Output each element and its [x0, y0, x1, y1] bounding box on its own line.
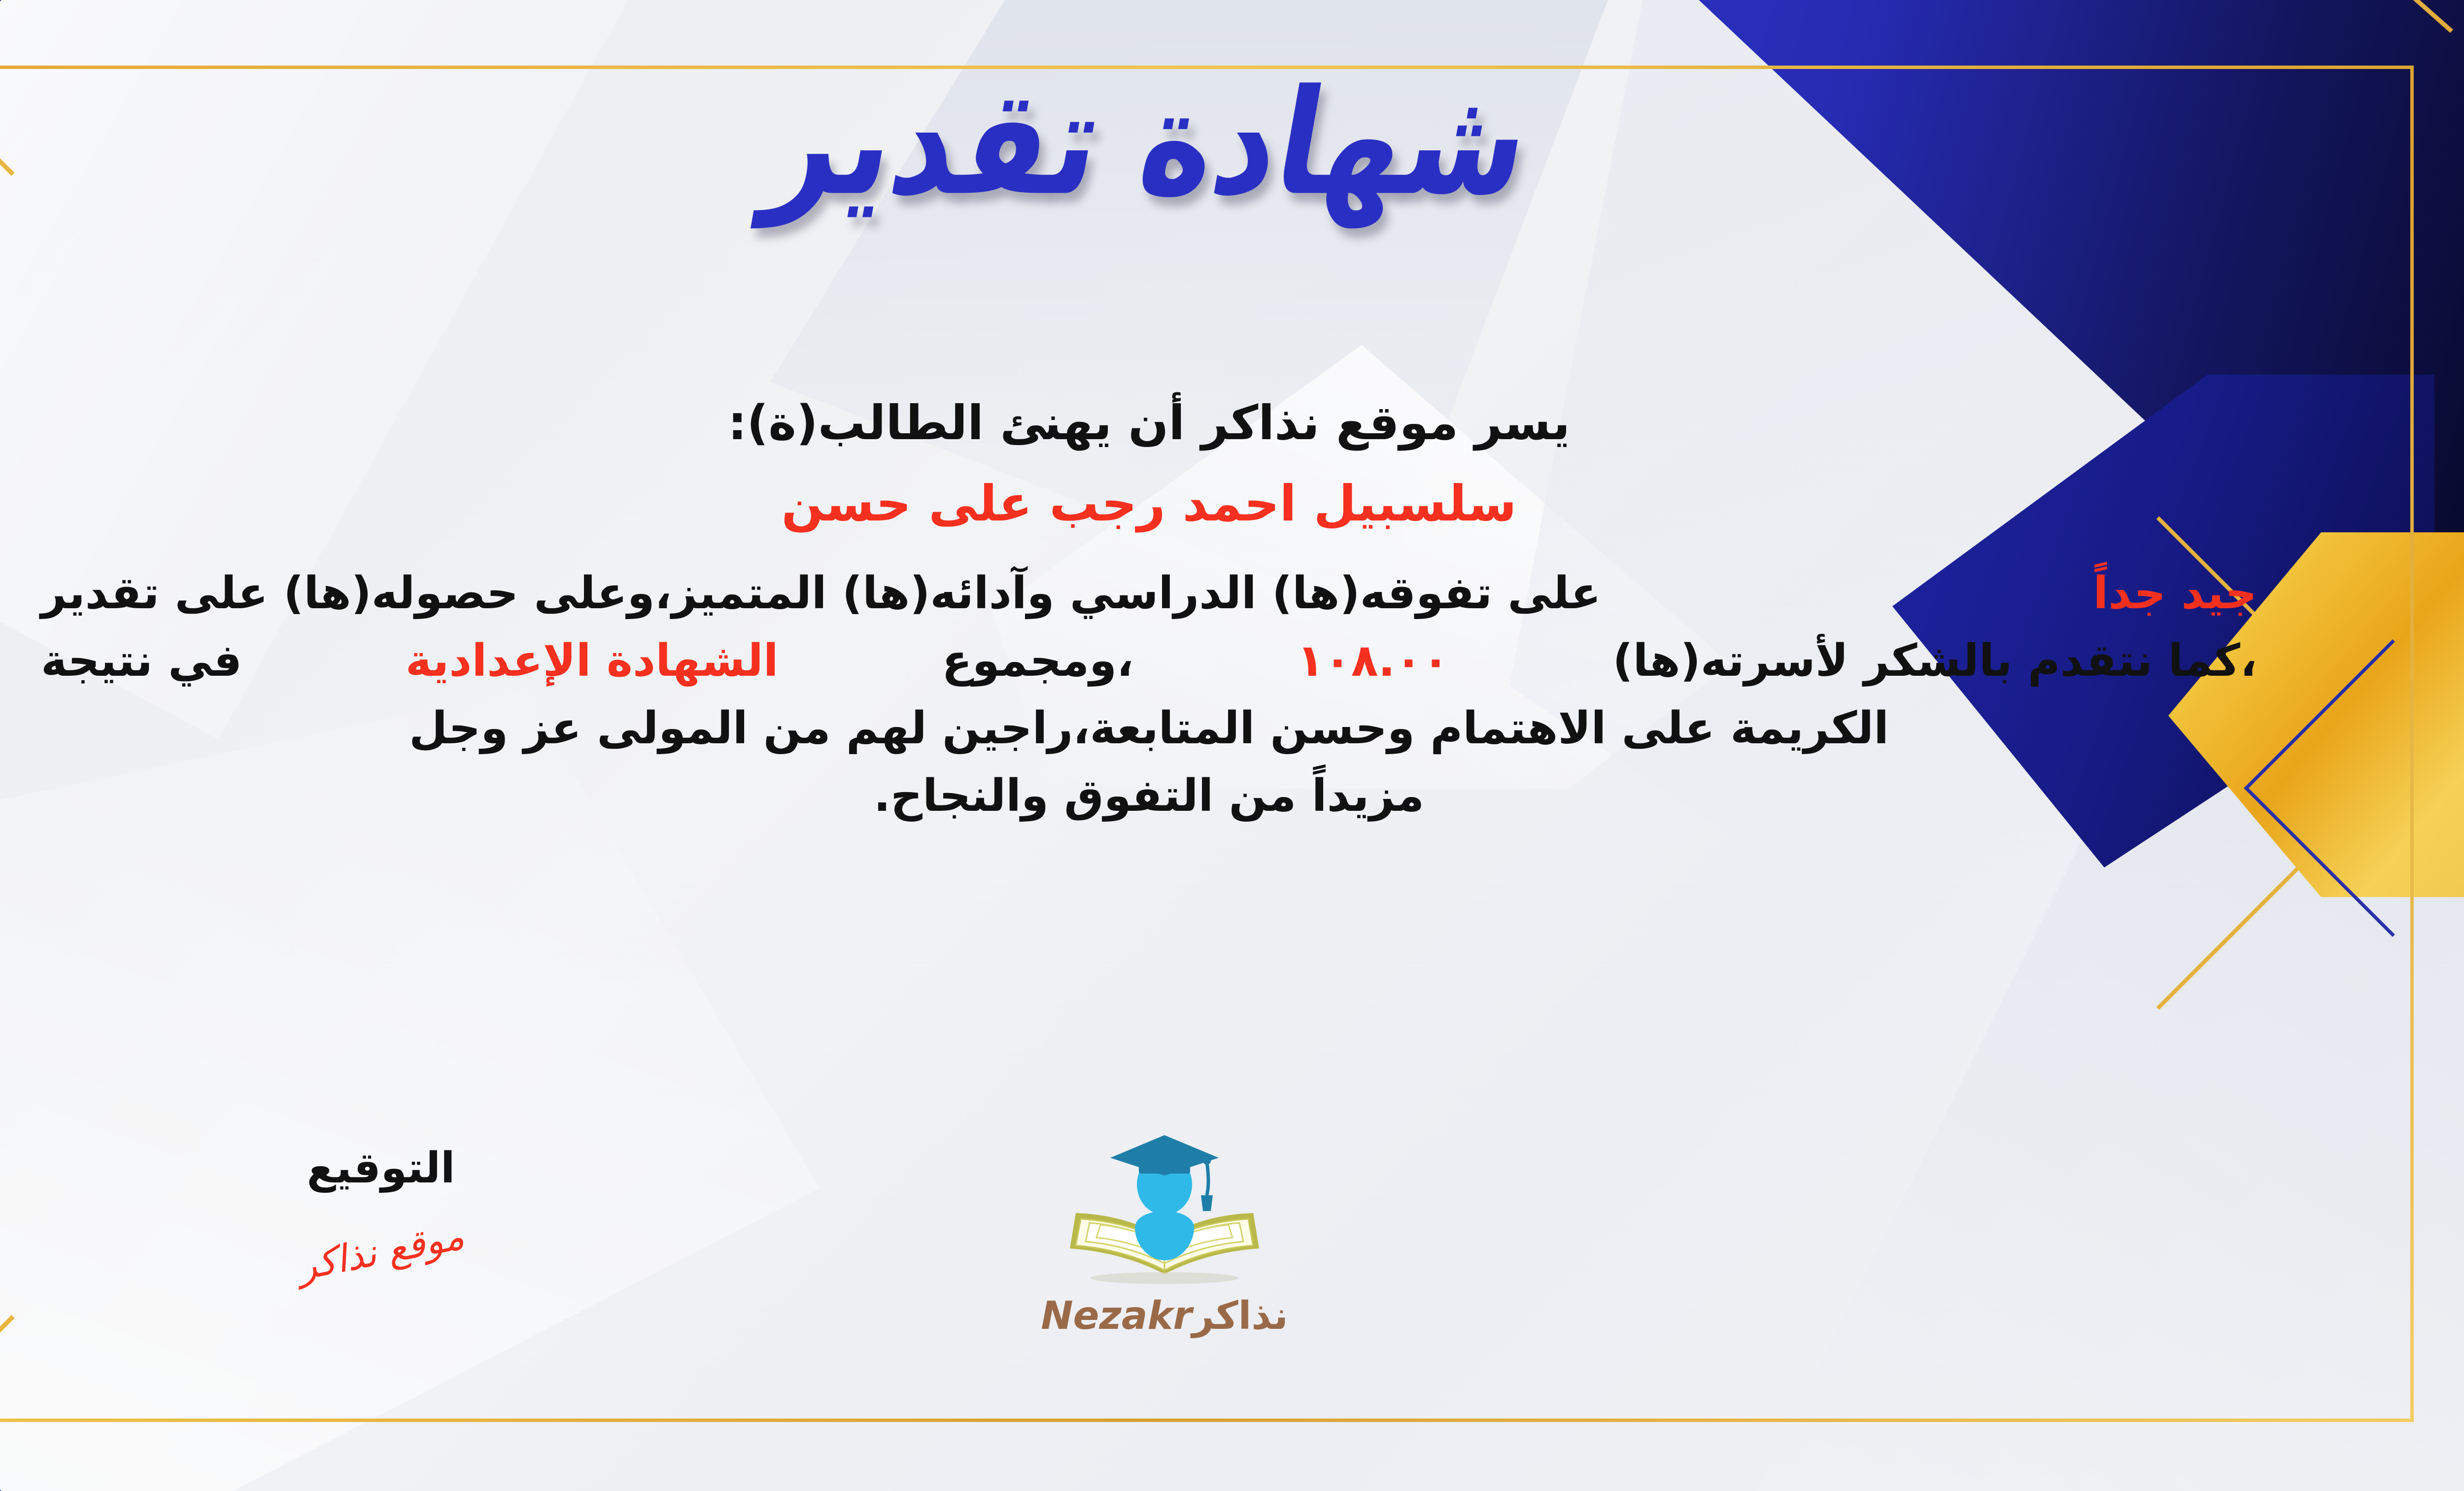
achievement-line-2: ،كما نتقدم بالشكر لأسرته(ها) ١٠٨.٠٠ ،ومج…: [41, 627, 2257, 695]
brand-name-ar: نذاكر: [1192, 1294, 1288, 1338]
intro-text: يسر موقع نذاكر أن يهنئ الطالب(ة):: [41, 389, 2257, 456]
thanks-text: ،كما نتقدم بالشكر لأسرته(ها): [1612, 627, 2257, 695]
achievement-line-1: جيد جداً على تفوقه(ها) الدراسي وآدائه(ها…: [41, 560, 2257, 627]
brand-logo-block: نذاكرNezakr: [997, 1126, 1332, 1338]
student-name: سلسبيل احمد رجب على حسن: [41, 469, 2257, 538]
signature-label: التوقيع: [208, 1144, 553, 1193]
certificate-body: يسر موقع نذاكر أن يهنئ الطالب(ة): سلسبيل…: [41, 389, 2257, 830]
achievement-line-1-text: على تفوقه(ها) الدراسي وآدائه(ها) المتميز…: [41, 560, 1601, 627]
total-score: ١٠٨.٠٠: [1297, 627, 1449, 695]
graduate-book-logo-icon: [1061, 1126, 1268, 1289]
total-label: ،ومجموع: [942, 627, 1133, 695]
brand-name-en: Nezakr: [1041, 1294, 1192, 1338]
result-prefix: في نتيجة: [41, 627, 242, 695]
signature-block: التوقيع موقع نذاكر: [208, 1144, 553, 1273]
brand-wordmark: نذاكرNezakr: [997, 1294, 1332, 1338]
exam-name: الشهادة الإعدادية: [406, 627, 779, 695]
certificate-title: شهادة تقدير: [756, 62, 1542, 224]
grade-value: جيد جداً: [2093, 560, 2257, 627]
certificate-title-area: شهادة تقدير: [0, 74, 2464, 212]
certificate-canvas: شهادة تقدير يسر موقع نذاكر أن يهنئ الطال…: [0, 0, 2464, 1491]
achievement-line-3: الكريمة على الاهتمام وحسن المتابعة،راجين…: [41, 695, 2257, 763]
achievement-line-4: مزيداً من التفوق والنجاح.: [41, 763, 2257, 830]
